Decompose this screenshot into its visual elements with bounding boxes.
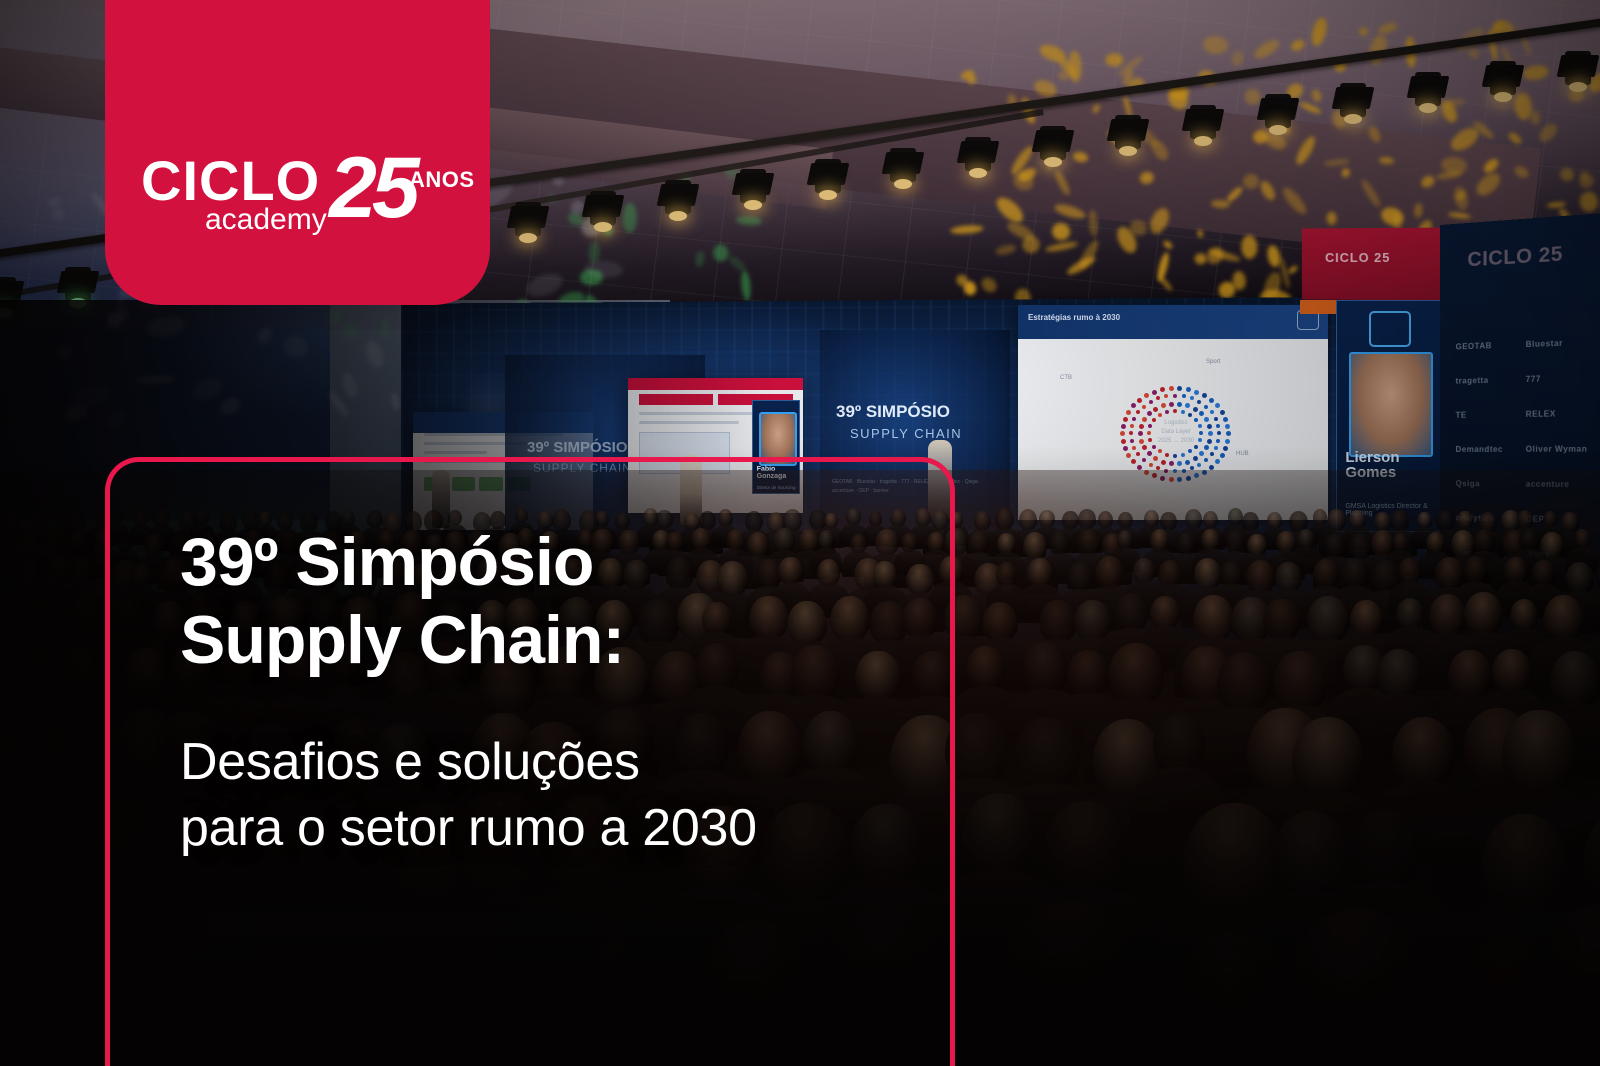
audience-head [1267, 512, 1282, 529]
audience-head [0, 532, 16, 552]
audience-head [997, 533, 1016, 554]
audience-head [6, 644, 63, 707]
laptop-keyboard [262, 945, 440, 1026]
audience-head [1067, 562, 1094, 592]
brand-logo-badge: CICLO academy 25 ANOS [105, 0, 490, 305]
audience-head [1095, 556, 1125, 589]
stage-red-band: CICLO 25 [1302, 227, 1460, 300]
headline-line-1: 39º Simpósio [180, 523, 960, 601]
audience-head [1022, 642, 1068, 694]
audience-head [1276, 531, 1296, 553]
audience-head [19, 722, 88, 799]
audience-head [996, 562, 1018, 586]
audience-head [1377, 649, 1421, 699]
audience-head [1350, 600, 1383, 637]
audience-head [63, 647, 104, 693]
backdrop-event-logo-line1: 39º SIMPÓSIO [527, 439, 628, 456]
audience-head [1019, 509, 1038, 530]
audience-head [108, 910, 248, 1066]
audience-head [1398, 558, 1421, 584]
audience-head [1062, 511, 1079, 530]
audience-head [1049, 531, 1070, 555]
audience-head [1349, 510, 1365, 528]
audience-head [1292, 717, 1364, 798]
audience-head [1153, 714, 1205, 772]
audience-head [1193, 595, 1234, 641]
audience-head [1574, 529, 1591, 548]
diagram-center-label: LogisticsData Layer2025 → 2030 [1136, 419, 1216, 446]
gm-badge-icon [1369, 311, 1411, 347]
brand-sub: academy [205, 205, 327, 235]
audience-head [67, 594, 107, 639]
copy-block: 39º Simpósio Supply Chain: Desafios e so… [180, 523, 960, 861]
sponsor-logo: Bluestar [1526, 339, 1563, 350]
audience-head [962, 793, 1037, 877]
audience-head [1220, 561, 1243, 586]
audience-head [982, 602, 1017, 642]
audience-head [1492, 649, 1532, 694]
audience-head [824, 905, 950, 1046]
audience-head [1118, 512, 1133, 529]
subtitle-line-1: Desafios e soluções [180, 729, 960, 795]
audience-head [54, 510, 67, 525]
audience-head [1158, 560, 1182, 587]
audience-head [1027, 558, 1053, 587]
page-title: 39º Simpósio Supply Chain: [180, 523, 960, 679]
anniversary-number: 25 [329, 145, 415, 231]
audience-head [1374, 512, 1391, 531]
audience-head [564, 925, 663, 1036]
audience-head [1228, 508, 1243, 525]
audience-head [1327, 509, 1346, 531]
audience-head [1565, 562, 1594, 594]
audience-head [1225, 529, 1247, 553]
audience-head [124, 648, 168, 698]
audience-head [1150, 529, 1169, 550]
sponsor-logo: Demandtec [1456, 445, 1503, 454]
audience-head [1313, 559, 1340, 589]
audience-head [130, 563, 154, 589]
audience-head [1247, 534, 1267, 557]
speaker-photo-fabio [759, 412, 798, 466]
audience-head [1108, 643, 1164, 705]
brand-name: CICLO [141, 153, 320, 209]
audience-head [1510, 599, 1538, 630]
stage-event-title-line1: 39º SIMPÓSIO [836, 402, 950, 422]
audience-head [1392, 533, 1409, 552]
audience-head [1481, 814, 1569, 912]
audience-head [1077, 529, 1101, 556]
audience-head [968, 531, 989, 555]
brand-logo-lockup: CICLO academy 25 ANOS [141, 153, 471, 263]
audience-head [1039, 510, 1054, 527]
audience-head [1396, 598, 1424, 630]
audience-head [43, 528, 62, 549]
audience-head [1044, 801, 1128, 895]
audience-head [966, 646, 1005, 690]
headline-line-2: Supply Chain: [180, 601, 960, 679]
audience-head [1098, 511, 1113, 528]
audience-head [1463, 556, 1489, 585]
audience-head [144, 534, 164, 556]
audience-head [515, 508, 528, 523]
audience-head [1275, 562, 1301, 592]
audience-head [1150, 596, 1180, 629]
audience-head [1517, 510, 1533, 528]
audience-head [1341, 558, 1369, 589]
audience-head [696, 921, 816, 1055]
audience-head [1429, 594, 1467, 636]
audience-head [1349, 809, 1420, 888]
audience-head [1561, 512, 1579, 532]
audience-head [1067, 650, 1109, 697]
audience-head [1203, 511, 1218, 528]
audience-head [1133, 558, 1155, 583]
speaker-photo-lierson [1349, 352, 1432, 457]
audience-head [70, 560, 95, 588]
audience-head [1464, 592, 1503, 635]
audience-head [74, 797, 165, 899]
audience-head [1201, 529, 1220, 551]
audience-head [1473, 529, 1495, 553]
audience-head [1457, 511, 1473, 529]
promo-banner: 39º SIMPÓSIO SUPPLY CHAIN Fabio Gonzaga [0, 0, 1600, 1066]
audience-head [1324, 533, 1346, 558]
sponsor-logo: RELEX [1526, 409, 1556, 419]
diagram-label-top: Sport [1206, 359, 1220, 365]
sponsor-logo: Oliver Wyman [1526, 444, 1588, 454]
screen-2-header [628, 378, 803, 390]
anniversary-unit: ANOS [409, 169, 475, 191]
audience-head [1006, 900, 1135, 1045]
sponsor-logo: GEOTAB [1456, 341, 1492, 351]
sponsor-logo: TE [1456, 411, 1467, 420]
audience-head [1272, 811, 1351, 899]
audience-head [21, 593, 51, 626]
audience-head [1532, 560, 1555, 586]
audience-head [1504, 557, 1528, 584]
page-subtitle: Desafios e soluções para o setor rumo a … [180, 729, 960, 861]
audience-head [14, 559, 45, 593]
audience-head [94, 530, 113, 552]
audience-head [1519, 529, 1538, 551]
audience-head [153, 508, 170, 527]
audience-head [1160, 512, 1177, 530]
audience-head [1263, 599, 1300, 641]
audience-head [1242, 512, 1258, 530]
audience-head [1426, 532, 1445, 553]
subtitle-line-2: para o setor rumo a 2030 [180, 795, 960, 861]
diagram-label-left: CTB [1060, 375, 1072, 381]
audience-head [974, 511, 991, 530]
audience-head [1078, 509, 1095, 528]
audience-head [117, 533, 134, 552]
audience-head [1392, 717, 1455, 788]
stage-event-title-line2: SUPPLY CHAIN [850, 426, 962, 441]
audience-head [1015, 717, 1080, 789]
sponsor-logo: tragetta [1456, 376, 1489, 386]
audience-head [1246, 560, 1275, 592]
audience-head [1023, 532, 1048, 559]
audience-head [1448, 650, 1491, 699]
audience-head [1144, 510, 1159, 527]
audience-head [112, 593, 148, 633]
audience-head [1348, 533, 1372, 560]
audience-head [67, 511, 85, 531]
audience-head [1194, 558, 1222, 589]
audience-head [1074, 600, 1111, 641]
red-band-logo: CICLO 25 [1325, 250, 1390, 265]
audience-head [48, 557, 73, 585]
audience-head [1297, 529, 1315, 549]
audience-head [68, 530, 88, 552]
main-screen-title: Estratégias rumo à 2030 [1028, 313, 1120, 322]
audience-head [1117, 530, 1134, 549]
main-screen-header: Estratégias rumo à 2030 [1018, 305, 1328, 339]
audience-head [1307, 596, 1348, 642]
sponsor-wall-brand: CICLO 25 [1467, 243, 1563, 272]
audience-head [95, 508, 110, 525]
audience-head [1435, 557, 1464, 589]
audience-head [1273, 651, 1327, 712]
audience-head [1176, 532, 1197, 555]
audience-head [1185, 509, 1202, 528]
sponsor-logo: 777 [1526, 374, 1541, 384]
audience-head [1540, 532, 1564, 559]
audience-head [1550, 651, 1600, 707]
audience-head [20, 532, 40, 554]
audience-head [1039, 600, 1077, 642]
audience-head [1217, 652, 1271, 712]
audience-head [1114, 593, 1148, 632]
audience-head [995, 508, 1014, 529]
audience-head [1390, 510, 1408, 530]
audience-head [1543, 595, 1584, 641]
audience-head [1287, 909, 1428, 1066]
audience-head [1436, 510, 1455, 531]
audience-head [1502, 710, 1577, 794]
diagram-label-right: HUB [1236, 451, 1249, 457]
